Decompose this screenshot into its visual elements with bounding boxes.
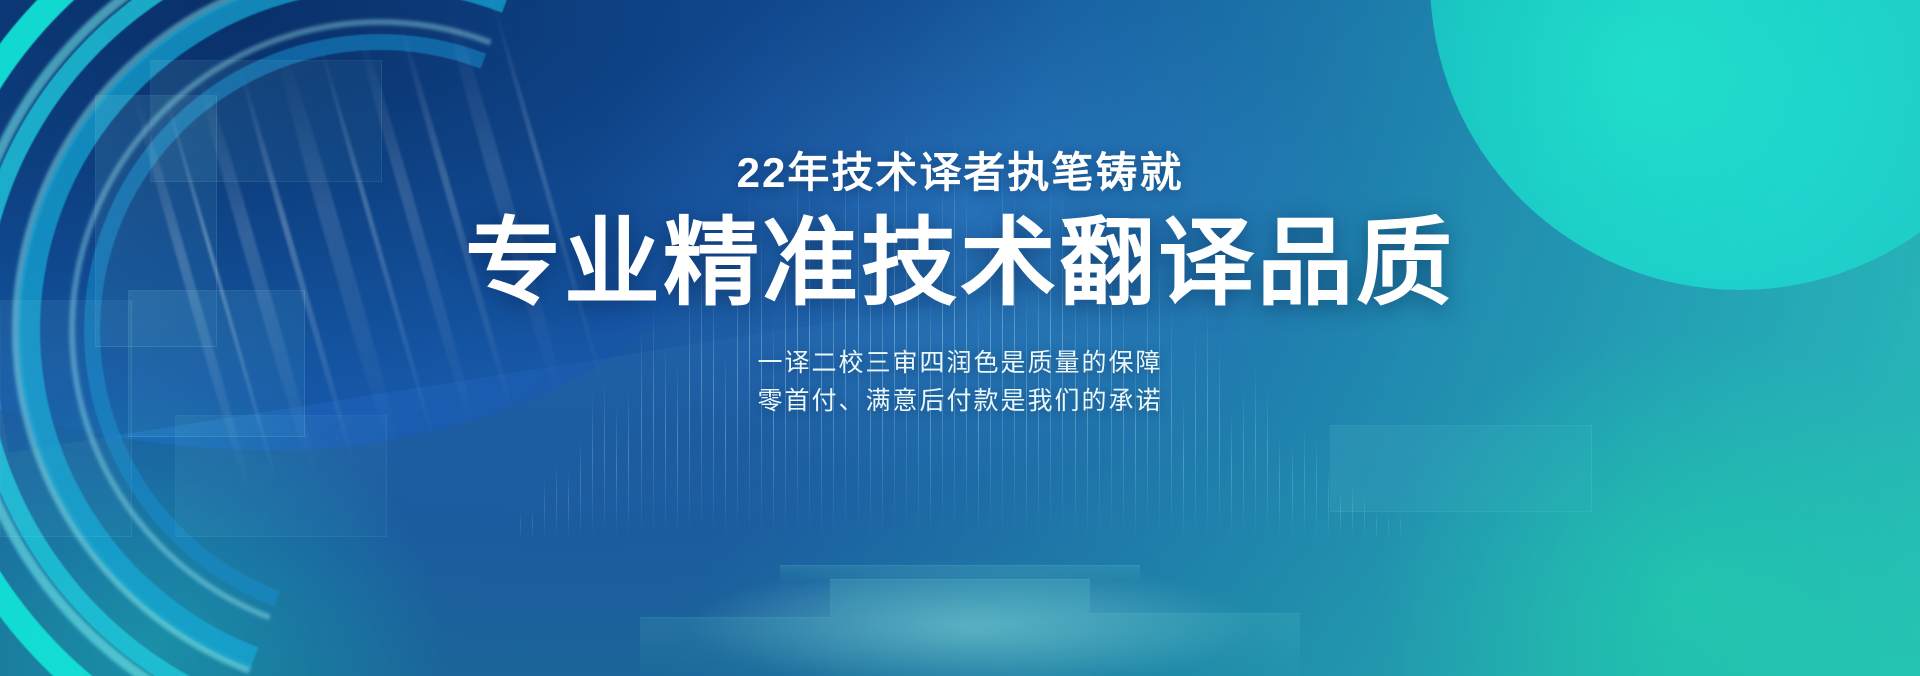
decor-vline-70 [1364, 494, 1365, 540]
decor-plate-5 [1330, 425, 1592, 512]
decor-vline-1 [532, 511, 533, 540]
decor-vline-8 [616, 404, 617, 540]
decor-vline-67 [1328, 469, 1329, 540]
decor-podium-slab-0 [830, 579, 1090, 676]
decor-vline-65 [1304, 423, 1305, 540]
decor-vline-63 [1279, 434, 1280, 540]
banner-subtitle-line-1: 一译二校三审四润色是质量的保障 [0, 344, 1920, 383]
decor-vline-0 [520, 512, 521, 540]
banner-subtitle: 一译二校三审四润色是质量的保障 零首付、满意后付款是我们的承诺 [0, 344, 1920, 422]
decor-podium-slab-2 [1090, 613, 1300, 676]
decor-vline-72 [1388, 512, 1389, 540]
decor-vline-2 [544, 478, 545, 540]
banner-eyebrow: 22年技术译者执笔铸就 [0, 150, 1920, 196]
decor-podium-glow [560, 536, 1380, 676]
hero-banner: 22年技术译者执笔铸就 专业精准技术翻译品质 一译二校三审四润色是质量的保障 零… [0, 0, 1920, 676]
decor-vline-68 [1340, 490, 1341, 540]
decor-vline-69 [1352, 483, 1353, 540]
banner-subtitle-line-2: 零首付、满意后付款是我们的承诺 [0, 382, 1920, 421]
decor-vline-3 [556, 461, 557, 540]
banner-headline: 专业精准技术翻译品质 [0, 210, 1920, 318]
decor-vline-73 [1400, 512, 1401, 540]
decor-vline-5 [580, 435, 581, 540]
decor-vline-4 [568, 471, 569, 540]
banner-text-block: 22年技术译者执笔铸就 专业精准技术翻译品质 一译二校三审四润色是质量的保障 零… [0, 150, 1920, 421]
decor-vline-64 [1292, 440, 1293, 540]
decor-podium-slab-1 [640, 617, 830, 676]
decor-vline-59 [1231, 409, 1232, 540]
decor-vline-71 [1376, 512, 1377, 540]
decor-podium-slab-3 [780, 565, 1140, 580]
decor-plate-4 [175, 415, 387, 537]
decor-vline-66 [1316, 435, 1317, 540]
